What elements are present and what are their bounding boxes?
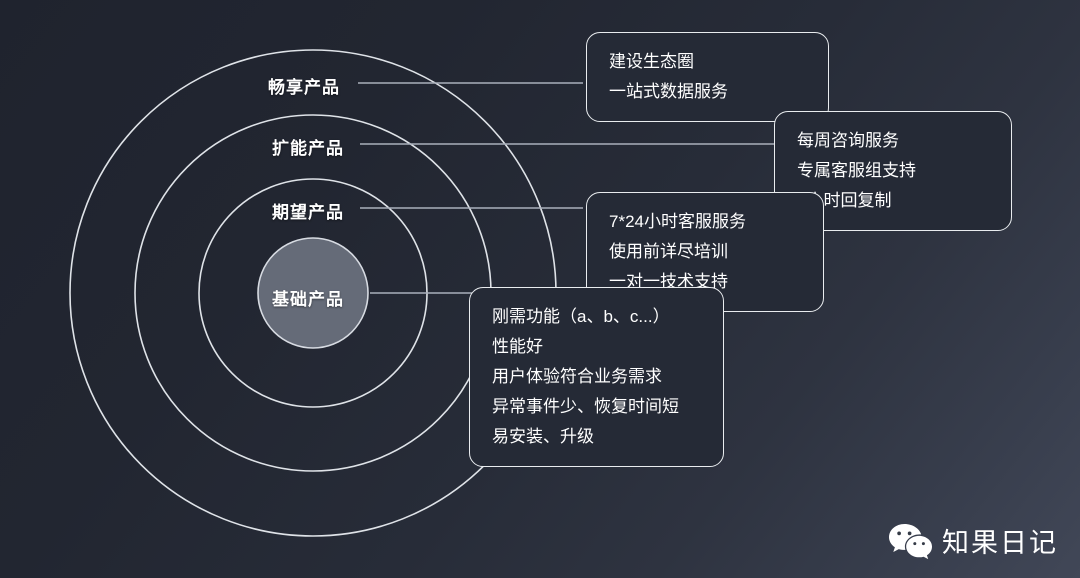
callout-line: 刚需功能（a、b、c...） [492,302,703,332]
ring-label-expected-product: 期望产品 [272,198,344,223]
callout-line: 使用前详尽培训 [609,237,803,267]
callout-line: 专属客服组支持 [797,156,991,186]
callout-line: 8小时回复制 [797,186,991,216]
callout-line: 用户体验符合业务需求 [492,362,703,392]
callout-line: 性能好 [492,332,703,362]
diagram-canvas: 畅享产品 扩能产品 期望产品 基础产品 建设生态圈 一站式数据服务 每周咨询服务… [0,0,1080,578]
ring-label-expand-product: 扩能产品 [272,134,344,159]
callout-line: 异常事件少、恢复时间短 [492,392,703,422]
wechat-icon [887,522,933,560]
callout-enjoy-product: 建设生态圈 一站式数据服务 [586,32,829,122]
watermark-text: 知果日记 [942,521,1058,560]
callout-basic-product: 刚需功能（a、b、c...） 性能好 用户体验符合业务需求 异常事件少、恢复时间… [469,287,724,467]
watermark: 知果日记 [887,521,1058,560]
callout-line: 每周咨询服务 [797,126,991,156]
callout-line: 易安装、升级 [492,422,703,452]
callout-line: 一站式数据服务 [609,77,808,107]
ring-label-enjoy-product: 畅享产品 [268,73,340,98]
callout-line: 7*24小时客服服务 [609,207,803,237]
ring-label-basic-product: 基础产品 [272,285,344,310]
callout-line: 建设生态圈 [609,47,808,77]
